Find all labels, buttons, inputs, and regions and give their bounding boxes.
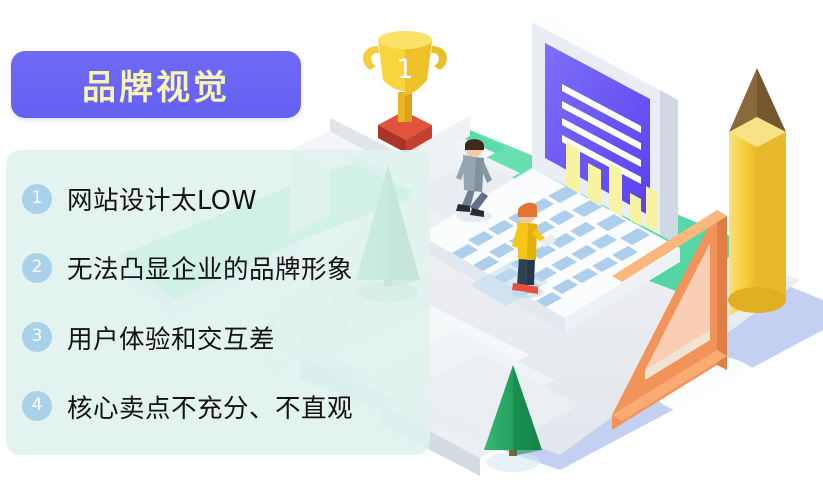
scene-root: 1 xyxy=(0,0,823,500)
bullet-text: 核心卖点不充分、不直观 xyxy=(67,388,353,425)
bullet-number-badge: 4 xyxy=(22,391,52,421)
bullet-text: 用户体验和交互差 xyxy=(67,319,275,356)
bullet-text: 网站设计太LOW xyxy=(67,180,257,217)
bullet-text: 无法凸显企业的品牌形象 xyxy=(67,249,353,286)
bullet-number-badge: 1 xyxy=(22,184,52,214)
pencil xyxy=(728,68,786,316)
bullet-list: 1 网站设计太LOW 2 无法凸显企业的品牌形象 3 用户体验和交互差 4 核心… xyxy=(6,150,436,455)
list-item: 4 核心卖点不充分、不直观 xyxy=(6,380,436,432)
bullet-number-badge: 2 xyxy=(22,253,52,283)
trophy-rank-label: 1 xyxy=(396,54,413,85)
page-title: 品牌视觉 xyxy=(82,60,230,109)
bullet-number-badge: 3 xyxy=(22,322,52,352)
list-item: 2 无法凸显企业的品牌形象 xyxy=(6,242,436,294)
page-title-badge: 品牌视觉 xyxy=(11,51,301,118)
list-item: 3 用户体验和交互差 xyxy=(6,311,436,363)
list-item: 1 网站设计太LOW xyxy=(6,173,436,225)
